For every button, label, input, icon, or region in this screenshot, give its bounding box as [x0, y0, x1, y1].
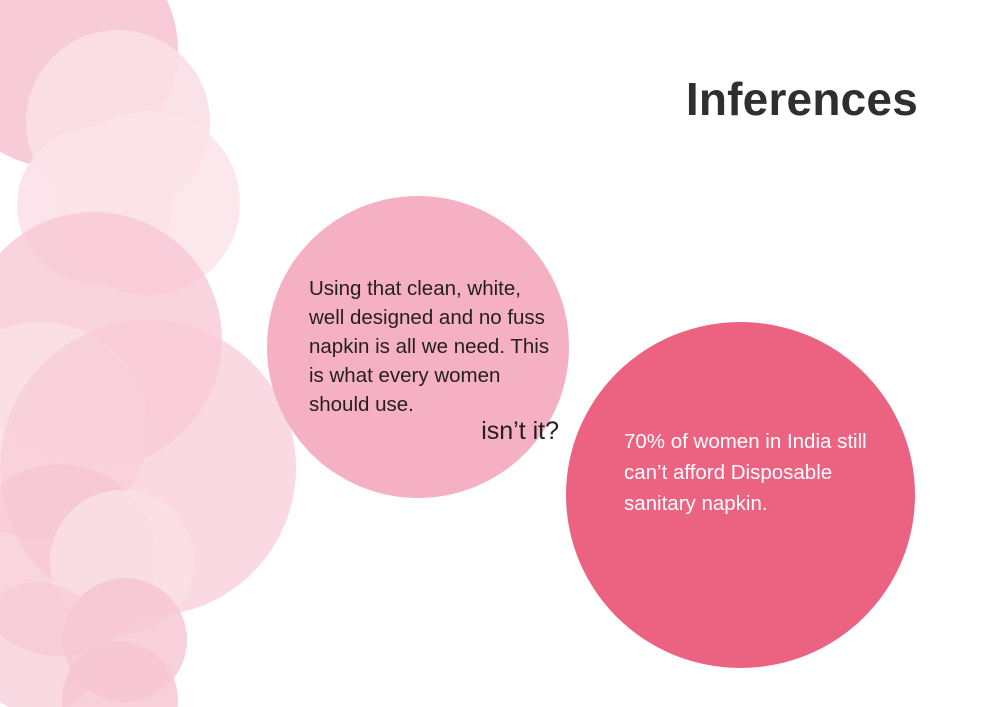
decorative-circle [0, 582, 104, 707]
decorative-circle [56, 111, 240, 295]
decorative-circle [50, 490, 194, 634]
decorative-circle [0, 320, 296, 616]
insight-bubble-light-text: Using that clean, white, well designed a… [309, 274, 559, 420]
insight-bubble-dark: 70% of women in India still can’t afford… [566, 322, 915, 668]
slide-canvas: Inferences Using that clean, white, well… [0, 0, 1000, 707]
decorative-circle [62, 642, 178, 707]
page-title: Inferences [686, 76, 918, 122]
decorative-circle [0, 0, 178, 168]
decorative-circle [63, 578, 187, 702]
decorative-circle [26, 30, 210, 214]
decorative-circle [17, 127, 173, 283]
insight-bubble-light: Using that clean, white, well designed a… [267, 196, 569, 498]
decorative-circle [0, 212, 222, 468]
decorative-circle [0, 464, 156, 656]
insight-bubble-dark-text: 70% of women in India still can’t afford… [624, 427, 886, 519]
decorative-circle [0, 322, 148, 538]
insight-bubble-light-tagline: isn’t it? [309, 418, 559, 446]
